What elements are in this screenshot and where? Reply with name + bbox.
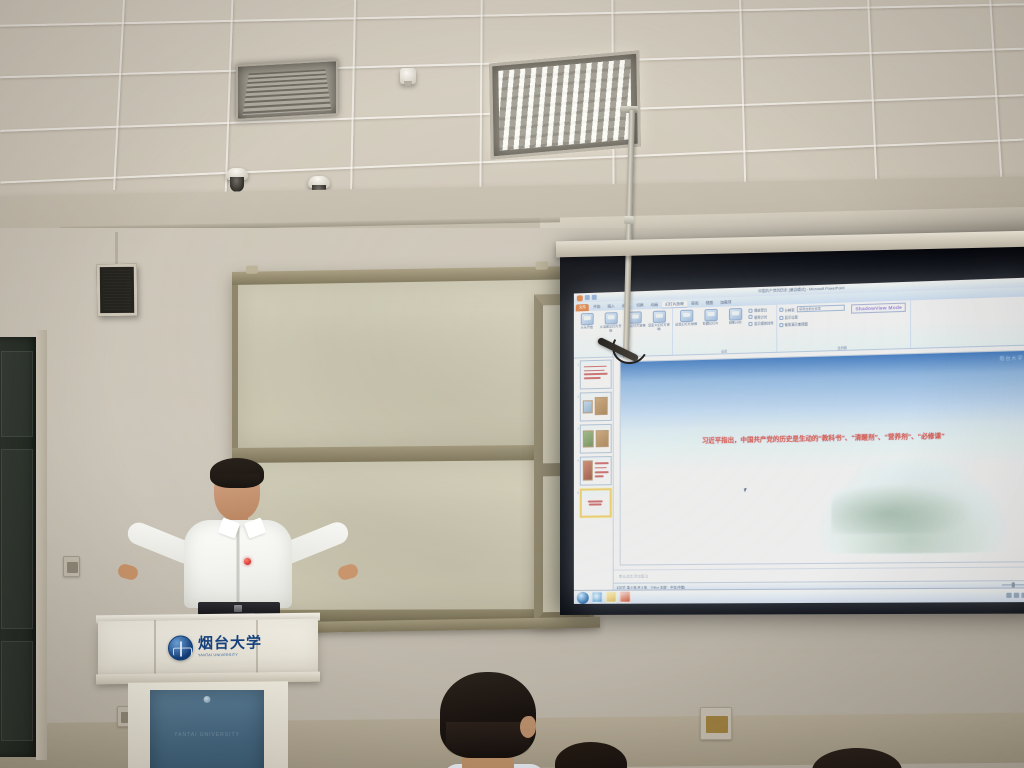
checkbox-icon <box>748 308 752 312</box>
shadowview-mode-button[interactable]: ShadowView Mode <box>851 303 906 314</box>
rehearse-timings-button[interactable]: 排练计时 <box>724 308 747 326</box>
thumb-number: 5 <box>575 489 579 495</box>
smoke-detector-icon <box>400 68 416 84</box>
list-item[interactable]: 2 <box>575 392 612 422</box>
slide-thumbnail-5[interactable] <box>580 488 612 518</box>
language-indicator[interactable]: 中文(中国) <box>670 584 685 589</box>
audience-member <box>555 742 627 768</box>
play-narrations-checkbox[interactable]: 播放旁白 <box>748 307 773 313</box>
notes-placeholder: 单击此处添加备注 <box>619 574 649 579</box>
pole-joint-ring <box>624 216 634 224</box>
university-name-en: YANTAI UNIVERSITY <box>198 653 262 657</box>
presenter-hair <box>210 458 264 488</box>
presenter <box>178 462 298 630</box>
door-frame <box>36 330 47 760</box>
setup-show-icon <box>680 310 693 323</box>
thumb-number: 4 <box>575 457 579 463</box>
wall-outlet <box>700 707 732 740</box>
system-tray[interactable]: 15:4 <box>1006 593 1024 598</box>
presenter-view-checkbox[interactable]: 使用演示者视图 <box>779 320 845 327</box>
university-name-cn: 烟台大学 <box>198 636 262 652</box>
hvac-diffuser <box>236 59 338 121</box>
thumb-number: 1 <box>575 360 579 366</box>
list-item[interactable]: 4 <box>575 456 612 486</box>
audience-member <box>812 748 902 768</box>
slide-thumbnail-1[interactable] <box>580 360 612 390</box>
start-from-current-button[interactable]: 从当前幻灯片开始 <box>600 312 622 333</box>
list-item[interactable]: 1 <box>575 360 612 390</box>
whiteboard-panel-top <box>238 279 560 447</box>
slide-thumbnail-panel[interactable]: 1 2 <box>574 357 614 589</box>
recessed-light-fixture <box>489 51 641 160</box>
checkbox-icon <box>748 315 752 319</box>
hide-slide-button[interactable]: 隐藏幻灯片 <box>699 309 721 327</box>
slide-thumbnail-3[interactable] <box>580 424 612 454</box>
setup-slideshow-button[interactable]: 设置幻灯片放映 <box>675 309 697 326</box>
resolution-icon <box>779 308 783 312</box>
rehearse-timings-icon <box>728 308 741 321</box>
slide-watermark: 烟台大学 <box>999 355 1023 362</box>
podium-front-panel: YANTAI UNIVERSITY <box>150 690 264 768</box>
powerpoint-body: 1 2 <box>574 345 1024 590</box>
resolution-row: 分辨率: 使用当前分辨率 <box>779 305 845 313</box>
current-slide[interactable]: 烟台大学 习近平指出，中国共产党的历史是生动的“教科书”、“清醒剂”、“营养剂”… <box>620 350 1024 566</box>
ribbon-group-setup: 设置幻灯片放映 隐藏幻灯片 排练计时 <box>673 305 777 355</box>
ribbon-group-monitors: 分辨率: 使用当前分辨率 显示位置: 使用演示者视图 <box>777 300 912 351</box>
hide-slide-icon <box>704 309 717 322</box>
slide-counter: 幻灯片 第 5 张,共 5 张 <box>617 584 647 589</box>
theme-name: “Office 主题” <box>650 584 667 589</box>
university-logo: 烟台大学 YANTAI UNIVERSITY <box>168 631 284 662</box>
party-emblem-pin-icon <box>244 558 251 565</box>
podium-panel-text: YANTAI UNIVERSITY <box>150 732 264 738</box>
university-crest-icon <box>168 635 193 660</box>
slideshow-start-icon <box>580 313 593 325</box>
tray-icon[interactable] <box>1014 593 1019 598</box>
custom-show-button[interactable]: 自定义幻灯片放映 <box>648 310 670 331</box>
slide-body-text: 习近平指出，中国共产党的历史是生动的“教科书”、“清醒剂”、“营养剂”、“必修课… <box>672 431 976 447</box>
speaker-wire <box>115 232 118 266</box>
file-explorer-icon[interactable] <box>606 592 617 603</box>
tray-icon[interactable] <box>1006 593 1011 598</box>
custom-show-icon <box>652 311 665 324</box>
checkbox-icon <box>748 321 752 325</box>
slide-thumbnail-4[interactable] <box>580 456 612 486</box>
mouse-cursor-icon <box>744 487 748 492</box>
classroom-door[interactable] <box>0 337 40 757</box>
wall-outlet <box>63 556 80 577</box>
slideshow-current-icon <box>604 312 617 324</box>
use-timings-checkbox[interactable]: 使用计时 <box>748 314 773 320</box>
start-orb-icon[interactable] <box>577 591 589 603</box>
resolution-combo[interactable]: 使用当前分辨率 <box>797 305 845 313</box>
powerpoint-icon[interactable] <box>620 592 631 603</box>
thumb-number: 2 <box>575 393 579 399</box>
show-on-row: 显示位置: <box>779 313 845 320</box>
thumb-number: 3 <box>575 425 579 431</box>
notes-pane[interactable]: 单击此处添加备注 <box>614 566 1024 582</box>
slide-landscape-graphic <box>805 456 1022 555</box>
list-item[interactable]: 5 <box>575 488 612 518</box>
presenter-shirt <box>184 520 292 608</box>
windows-taskbar[interactable]: 15:4 <box>574 587 1024 604</box>
wall-speaker <box>97 264 138 316</box>
audience-member <box>432 672 548 768</box>
slide-editing-area: 烟台大学 习近平指出，中国共产党的历史是生动的“教科书”、“清醒剂”、“营养剂”… <box>614 345 1024 589</box>
internet-explorer-icon[interactable] <box>592 592 603 603</box>
powerpoint-window[interactable]: 中国共产党的历史 [兼容模式] - Microsoft PowerPoint 文… <box>574 277 1024 604</box>
list-item[interactable]: 3 <box>575 424 612 454</box>
ribbon-group-label: 监视器 <box>837 346 846 350</box>
zoom-slider[interactable] <box>1002 584 1024 585</box>
podium: 烟台大学 YANTAI UNIVERSITY YANTAI UNIVERSITY <box>96 614 320 768</box>
lecture-hall-photo: 中国共产党的历史 [兼容模式] - Microsoft PowerPoint 文… <box>0 0 1024 768</box>
slide-thumbnail-2[interactable] <box>580 392 612 422</box>
broadcast-icon <box>628 311 641 324</box>
monitor-icon <box>779 315 783 319</box>
zoom-knob[interactable] <box>1011 582 1014 587</box>
podium-knob-icon <box>204 696 211 703</box>
start-from-beginning-button[interactable]: 从头开始 <box>576 313 598 330</box>
checkbox-icon <box>779 322 783 326</box>
show-media-controls-checkbox[interactable]: 显示媒体控件 <box>748 320 773 326</box>
ribbon-group-label: 设置 <box>721 349 727 353</box>
